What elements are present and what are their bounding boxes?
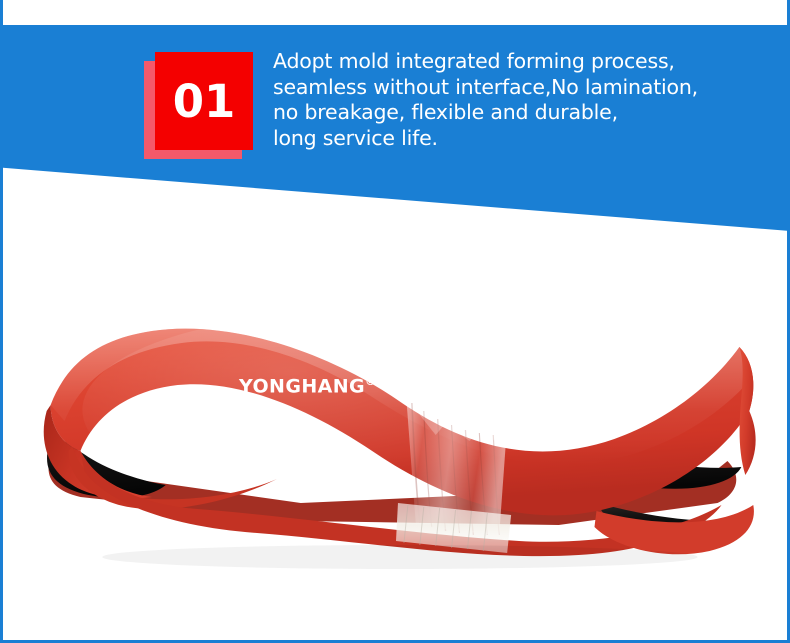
headline-line-4: long service life. <box>273 126 773 152</box>
headline-line-2: seamless without interface,No lamination… <box>273 75 773 101</box>
feature-headline: Adopt mold integrated forming process, s… <box>273 49 773 151</box>
feature-number-badge: 01 <box>144 52 254 160</box>
headline-line-3: no breakage, flexible and durable, <box>273 100 773 126</box>
brand-wordmark: YONGHANG® <box>239 375 376 397</box>
headline-line-1: Adopt mold integrated forming process, <box>273 49 773 75</box>
belt-contact-shadow <box>102 545 697 569</box>
product-photo <box>3 235 787 610</box>
product-feature-page: 01 Adopt mold integrated forming process… <box>0 0 790 643</box>
brand-name-text: YONGHANG <box>239 375 365 397</box>
conveyor-belt-illustration <box>3 235 787 610</box>
registered-trademark-icon: ® <box>365 375 376 388</box>
badge-number-label: 01 <box>173 79 236 124</box>
badge-front-square: 01 <box>155 52 253 150</box>
